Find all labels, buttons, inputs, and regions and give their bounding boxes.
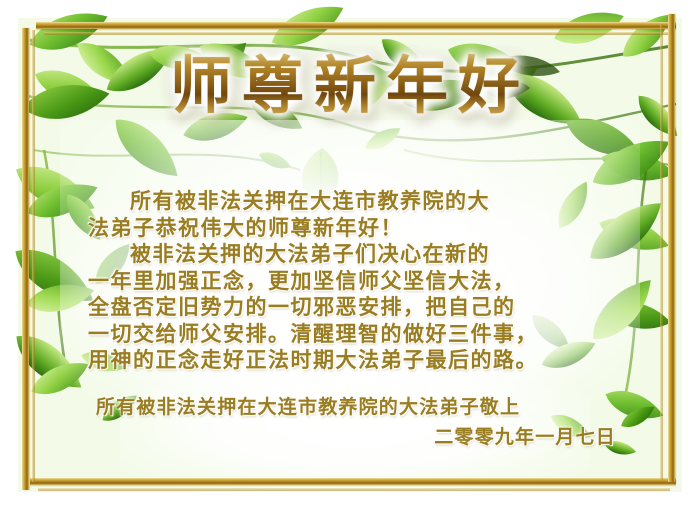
body-line: 法弟子恭祝伟大的师尊新年好！ (88, 215, 618, 242)
card-body: 所有被非法关押在大连市教养院的大 法弟子恭祝伟大的师尊新年好！ 被非法关押的大法… (88, 188, 618, 374)
signature-text: 所有被非法关押在大连市教养院的大法弟子敬上 (96, 392, 616, 422)
body-line: 被非法关押的大法弟子们决心在新的 (88, 241, 618, 268)
body-line: 所有被非法关押在大连市教养院的大 (88, 188, 618, 215)
body-line: 一切交给师父安排。清醒理智的做好三件事， (88, 321, 618, 348)
frame-top-inner-line (44, 32, 668, 35)
greeting-card: 师尊新年好 所有被非法关押在大连市教养院的大 法弟子恭祝伟大的师尊新年好！ 被非… (0, 0, 700, 510)
frame-left-inner-line (32, 30, 35, 482)
frame-bottom-inner-line (38, 488, 670, 491)
frame-right-line (668, 14, 675, 482)
frame-top-line (36, 22, 676, 29)
frame-bottom-line (30, 478, 676, 485)
card-signature-block: 所有被非法关押在大连市教养院的大法弟子敬上 二零零九年一月七日 (96, 392, 616, 452)
body-line: 一年里加强正念，更加坚信师父坚信大法， (88, 268, 618, 295)
frame-right-inner-line (660, 24, 663, 480)
body-line: 用神的正念走好正法时期大法弟子最后的路。 (88, 347, 618, 374)
signature-date: 二零零九年一月七日 (96, 422, 616, 452)
body-line: 全盘否定旧势力的一切邪恶安排，把自己的 (88, 294, 618, 321)
frame-left-line (22, 28, 29, 490)
